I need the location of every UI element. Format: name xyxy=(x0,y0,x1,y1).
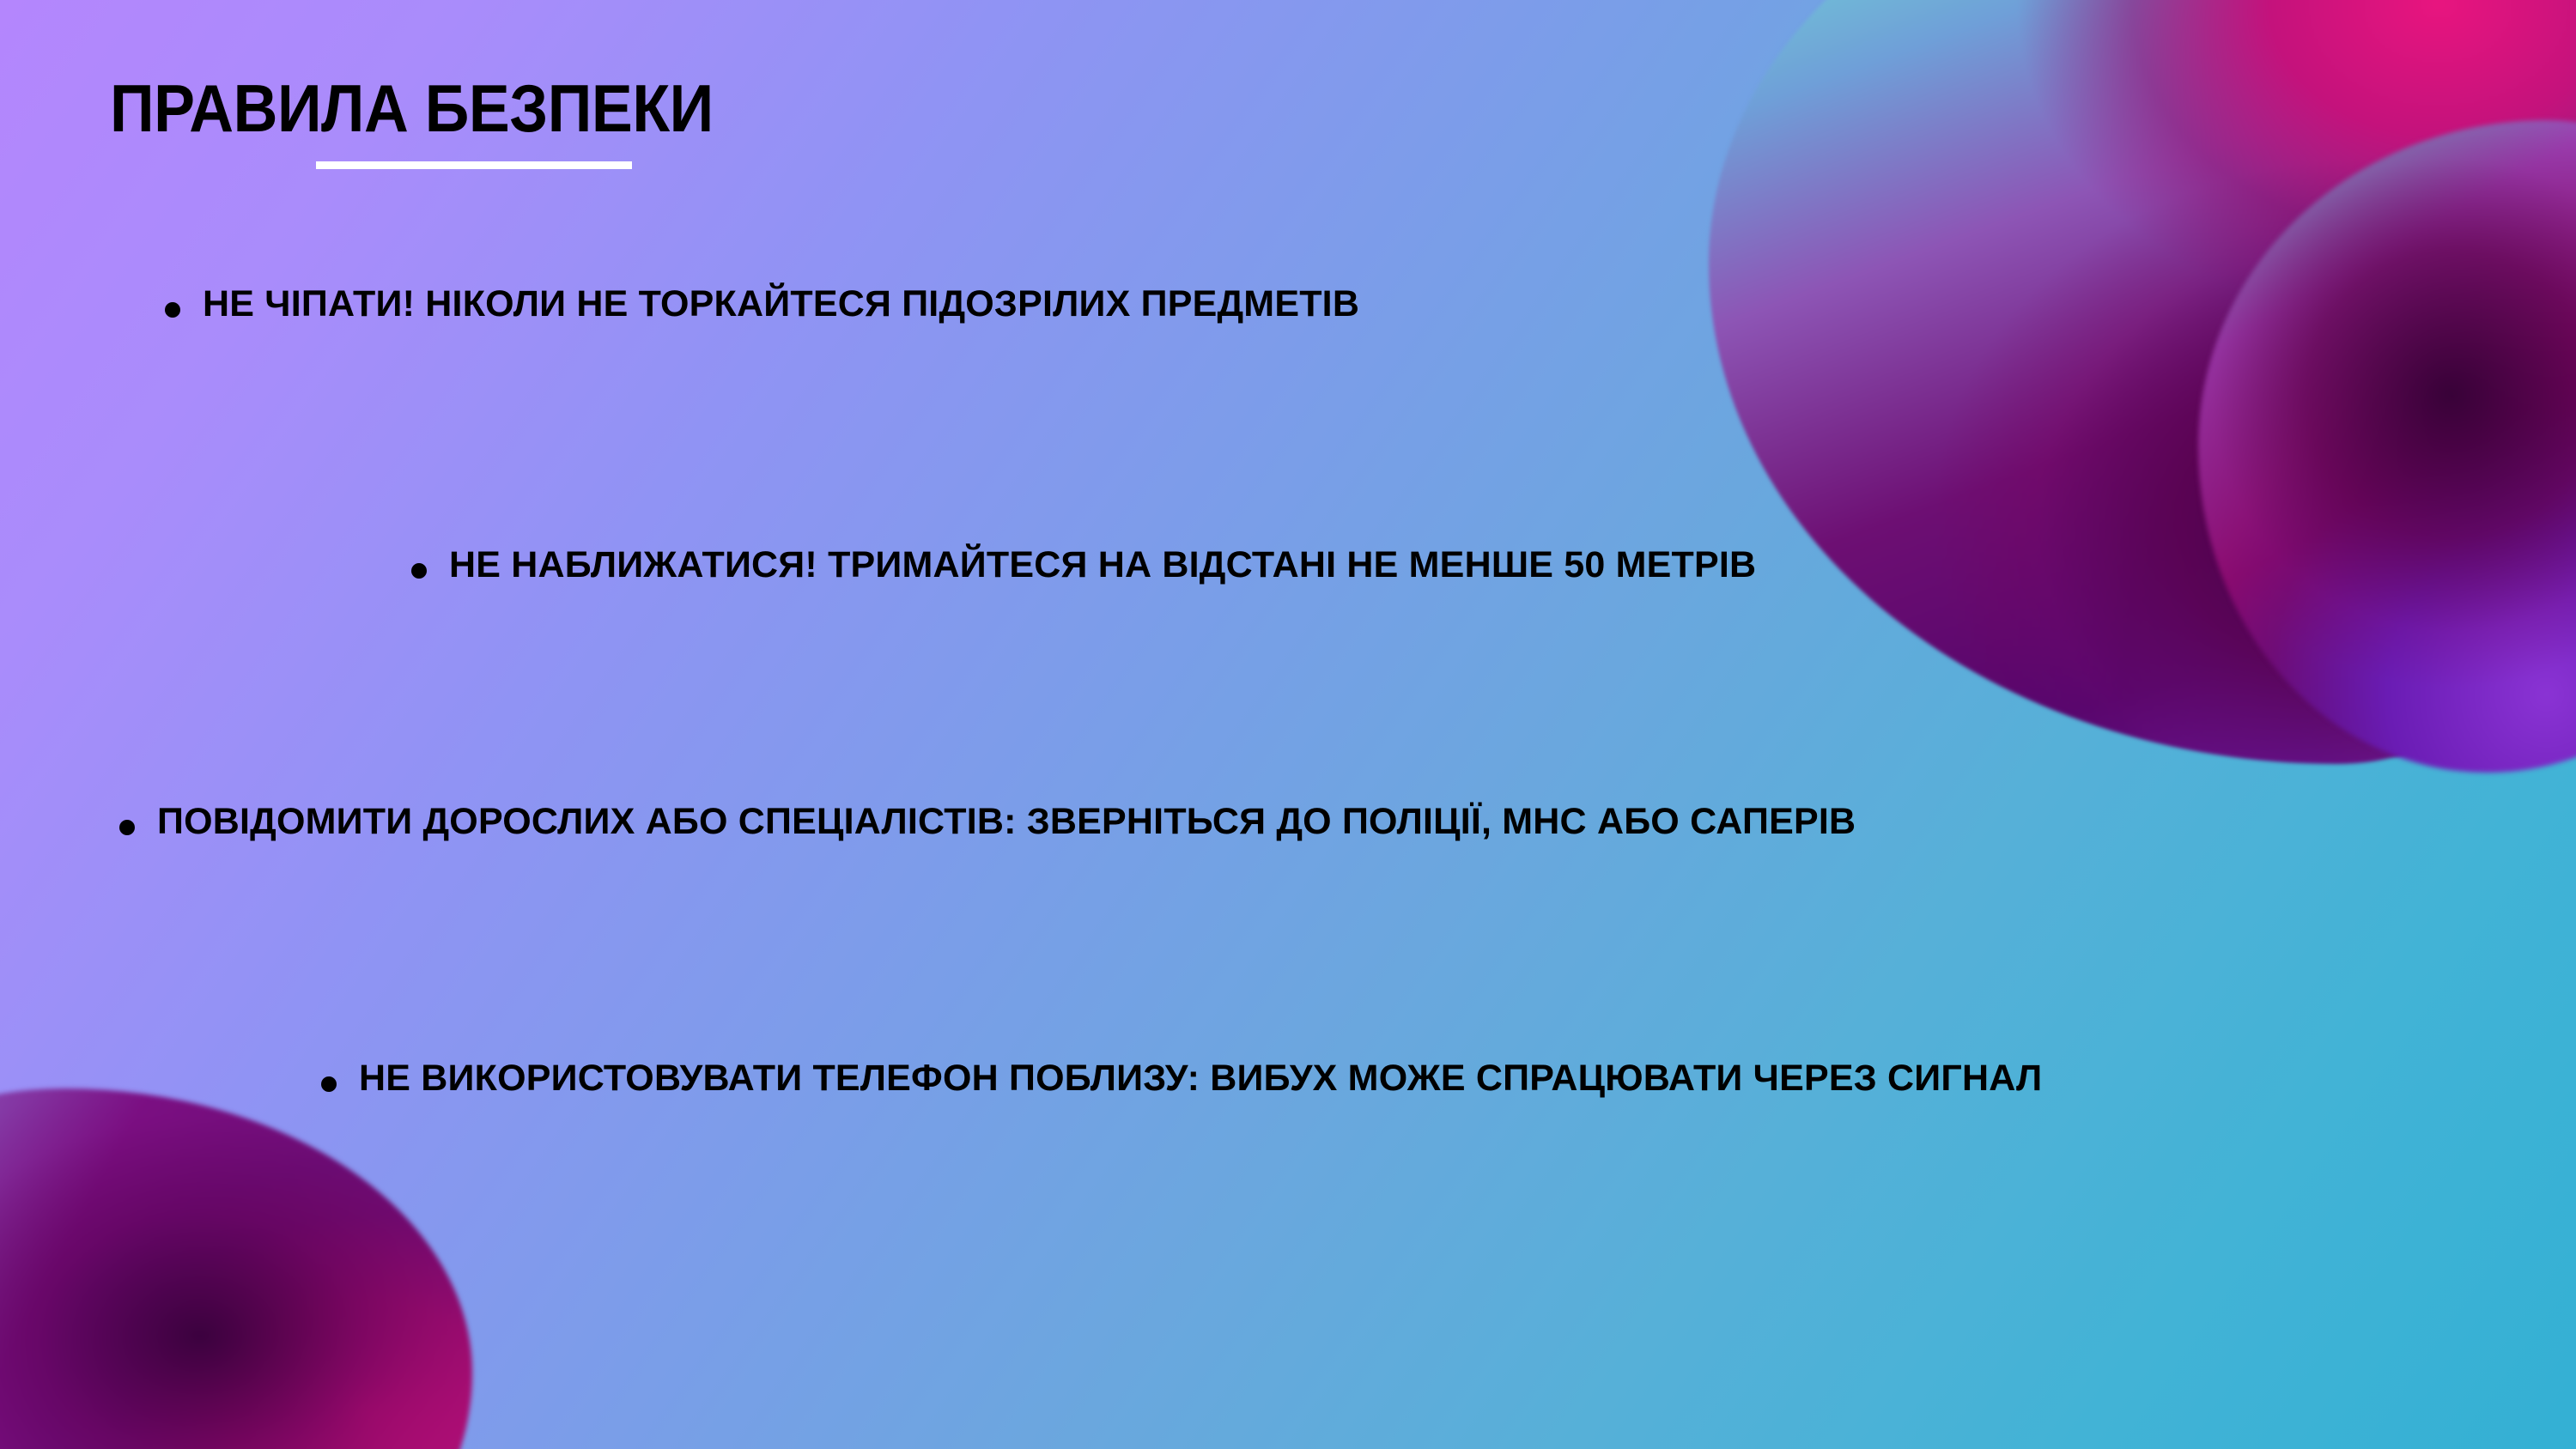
title-underline xyxy=(316,161,632,169)
list-item: ПОВІДОМИТИ ДОРОСЛИХ АБО СПЕЦІАЛІСТІВ: ЗВ… xyxy=(119,801,2576,849)
list-item-label: ПОВІДОМИТИ ДОРОСЛИХ АБО СПЕЦІАЛІСТІВ: ЗВ… xyxy=(157,801,1856,842)
slide-title: ПРАВИЛА БЕЗПЕКИ xyxy=(110,76,821,141)
title-block: ПРАВИЛА БЕЗПЕКИ xyxy=(110,76,883,169)
list-item: НЕ ВИКОРИСТОВУВАТИ ТЕЛЕФОН ПОБЛИЗУ: ВИБУ… xyxy=(321,1058,2576,1106)
list-item-label: НЕ ЧІПАТИ! НІКОЛИ НЕ ТОРКАЙТЕСЯ ПІДОЗРІЛ… xyxy=(203,283,1359,324)
safety-rules-list: НЕ ЧІПАТИ! НІКОЛИ НЕ ТОРКАЙТЕСЯ ПІДОЗРІЛ… xyxy=(0,283,2576,1106)
bullet-dot-icon xyxy=(321,1076,337,1092)
list-item: НЕ ЧІПАТИ! НІКОЛИ НЕ ТОРКАЙТЕСЯ ПІДОЗРІЛ… xyxy=(165,283,2576,331)
slide-content: ПРАВИЛА БЕЗПЕКИ НЕ ЧІПАТИ! НІКОЛИ НЕ ТОР… xyxy=(0,0,2576,1449)
list-item-label: НЕ ВИКОРИСТОВУВАТИ ТЕЛЕФОН ПОБЛИЗУ: ВИБУ… xyxy=(359,1058,2042,1099)
list-item: НЕ НАБЛИЖАТИСЯ! ТРИМАЙТЕСЯ НА ВІДСТАНІ Н… xyxy=(411,544,2576,592)
presentation-slide: ПРАВИЛА БЕЗПЕКИ НЕ ЧІПАТИ! НІКОЛИ НЕ ТОР… xyxy=(0,0,2576,1449)
list-item-label: НЕ НАБЛИЖАТИСЯ! ТРИМАЙТЕСЯ НА ВІДСТАНІ Н… xyxy=(449,544,1756,585)
bullet-dot-icon xyxy=(165,302,180,318)
bullet-dot-icon xyxy=(119,820,135,835)
bullet-dot-icon xyxy=(411,563,427,579)
